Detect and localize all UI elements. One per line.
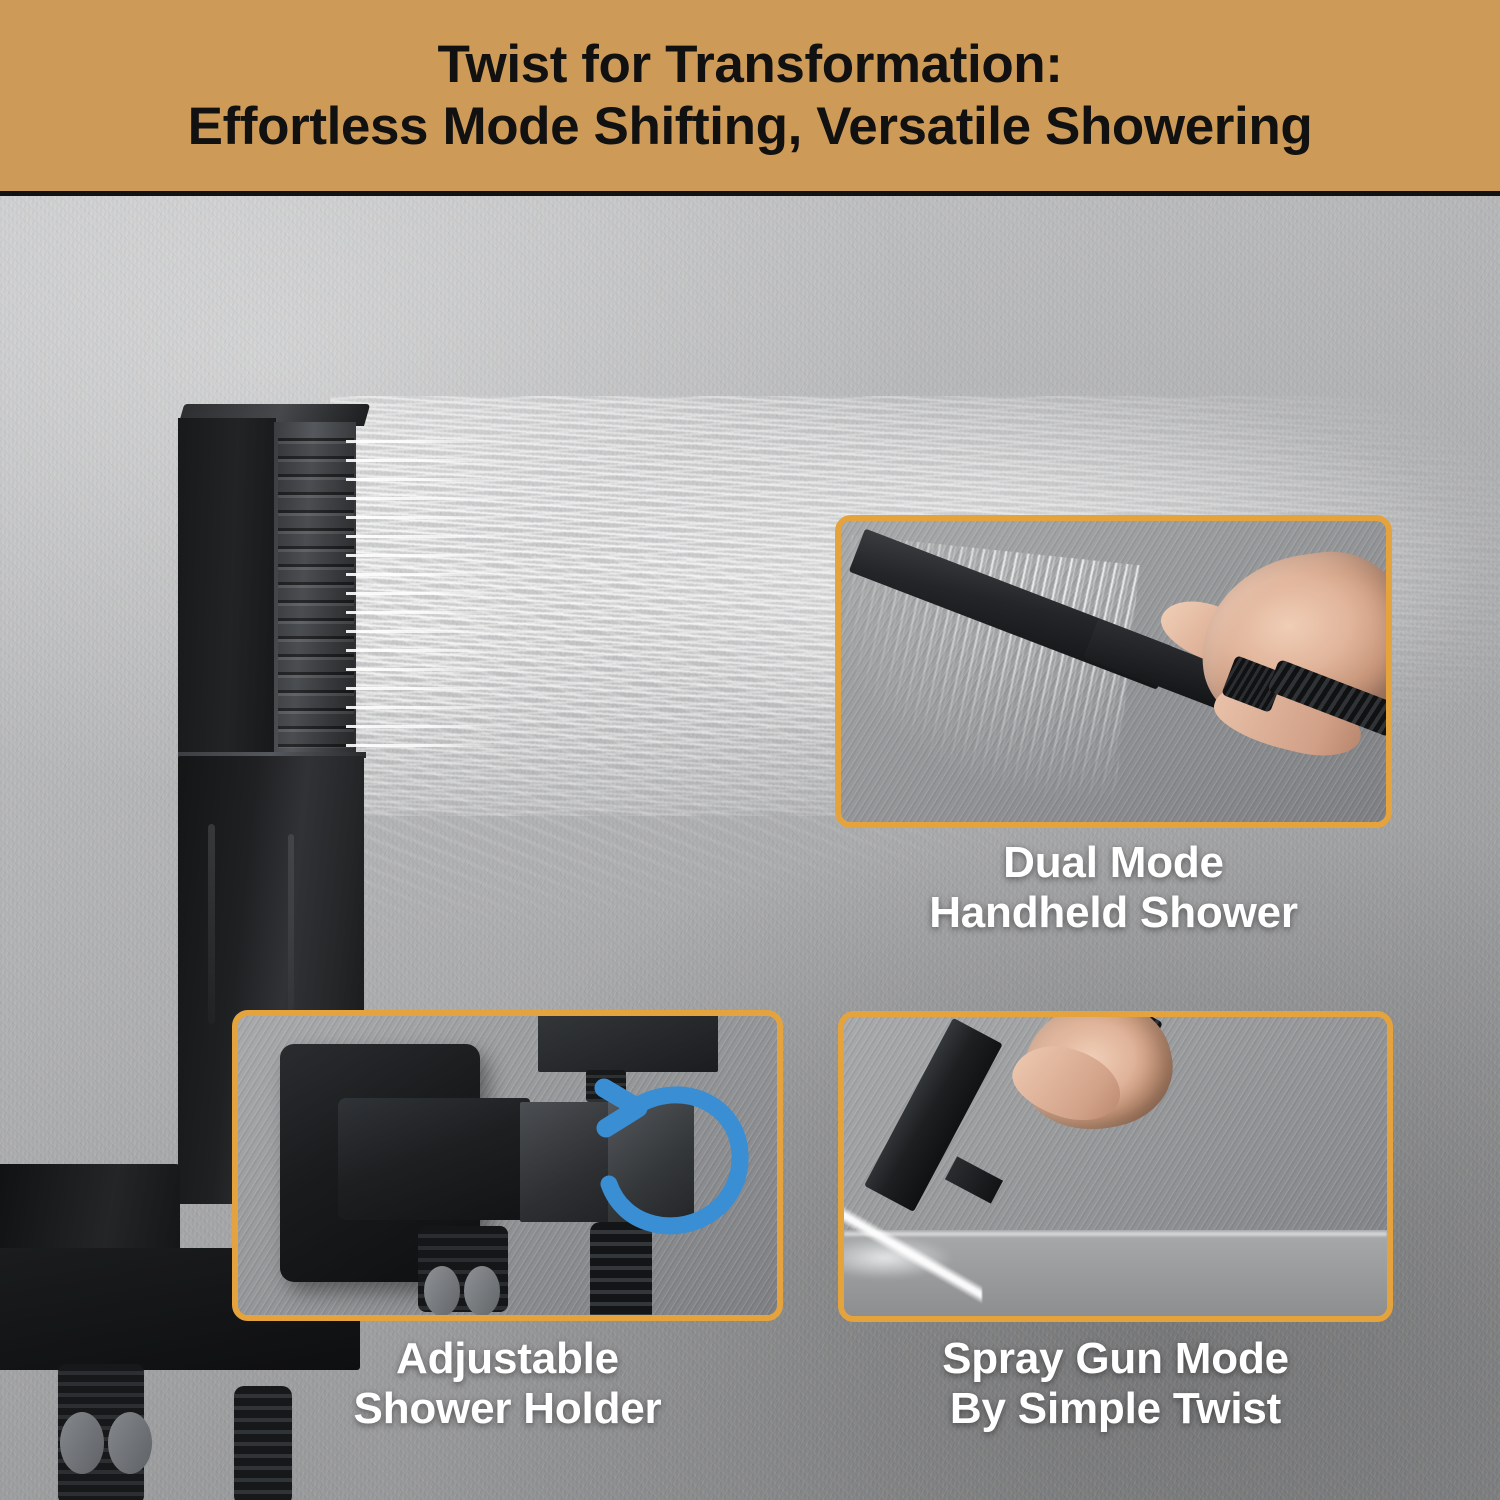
- caption-holder-line-1: Adjustable: [232, 1334, 783, 1384]
- valve-knob-left: [60, 1412, 104, 1474]
- callout-panel-holder: [232, 1010, 783, 1321]
- caption-handheld: Dual Mode Handheld Shower: [835, 838, 1392, 938]
- shower-head-front-face: [178, 418, 276, 766]
- holder-outlet-port-right: [464, 1266, 500, 1316]
- callout-panel-spraygun: [838, 1011, 1393, 1322]
- caption-handheld-line-1: Dual Mode: [835, 838, 1392, 888]
- caption-spraygun-line-1: Spray Gun Mode: [838, 1334, 1393, 1384]
- callout-panel-handheld: [835, 515, 1392, 828]
- banner-divider-rule: [0, 191, 1500, 196]
- rotation-arrow-icon: [576, 1058, 756, 1246]
- caption-spraygun: Spray Gun Mode By Simple Twist: [838, 1334, 1393, 1434]
- holder-outlet-port-left: [424, 1266, 460, 1316]
- valve-knob-right: [108, 1412, 152, 1474]
- caption-spraygun-line-2: By Simple Twist: [838, 1384, 1393, 1434]
- header-banner: Twist for Transformation: Effortless Mod…: [0, 0, 1500, 191]
- banner-title-line-1: Twist for Transformation:: [188, 34, 1313, 96]
- caption-holder-line-2: Shower Holder: [232, 1384, 783, 1434]
- shower-head-water-jets: [346, 440, 516, 748]
- holder-arm-block: [338, 1098, 530, 1220]
- banner-title: Twist for Transformation: Effortless Mod…: [148, 34, 1353, 158]
- spraygun-water-splash: [838, 1230, 978, 1286]
- product-feature-poster: Twist for Transformation: Effortless Mod…: [0, 0, 1500, 1500]
- shower-head-nozzle-rows: [278, 438, 354, 748]
- caption-holder: Adjustable Shower Holder: [232, 1334, 783, 1434]
- banner-title-line-2: Effortless Mode Shifting, Versatile Show…: [188, 96, 1313, 158]
- caption-handheld-line-2: Handheld Shower: [835, 888, 1392, 938]
